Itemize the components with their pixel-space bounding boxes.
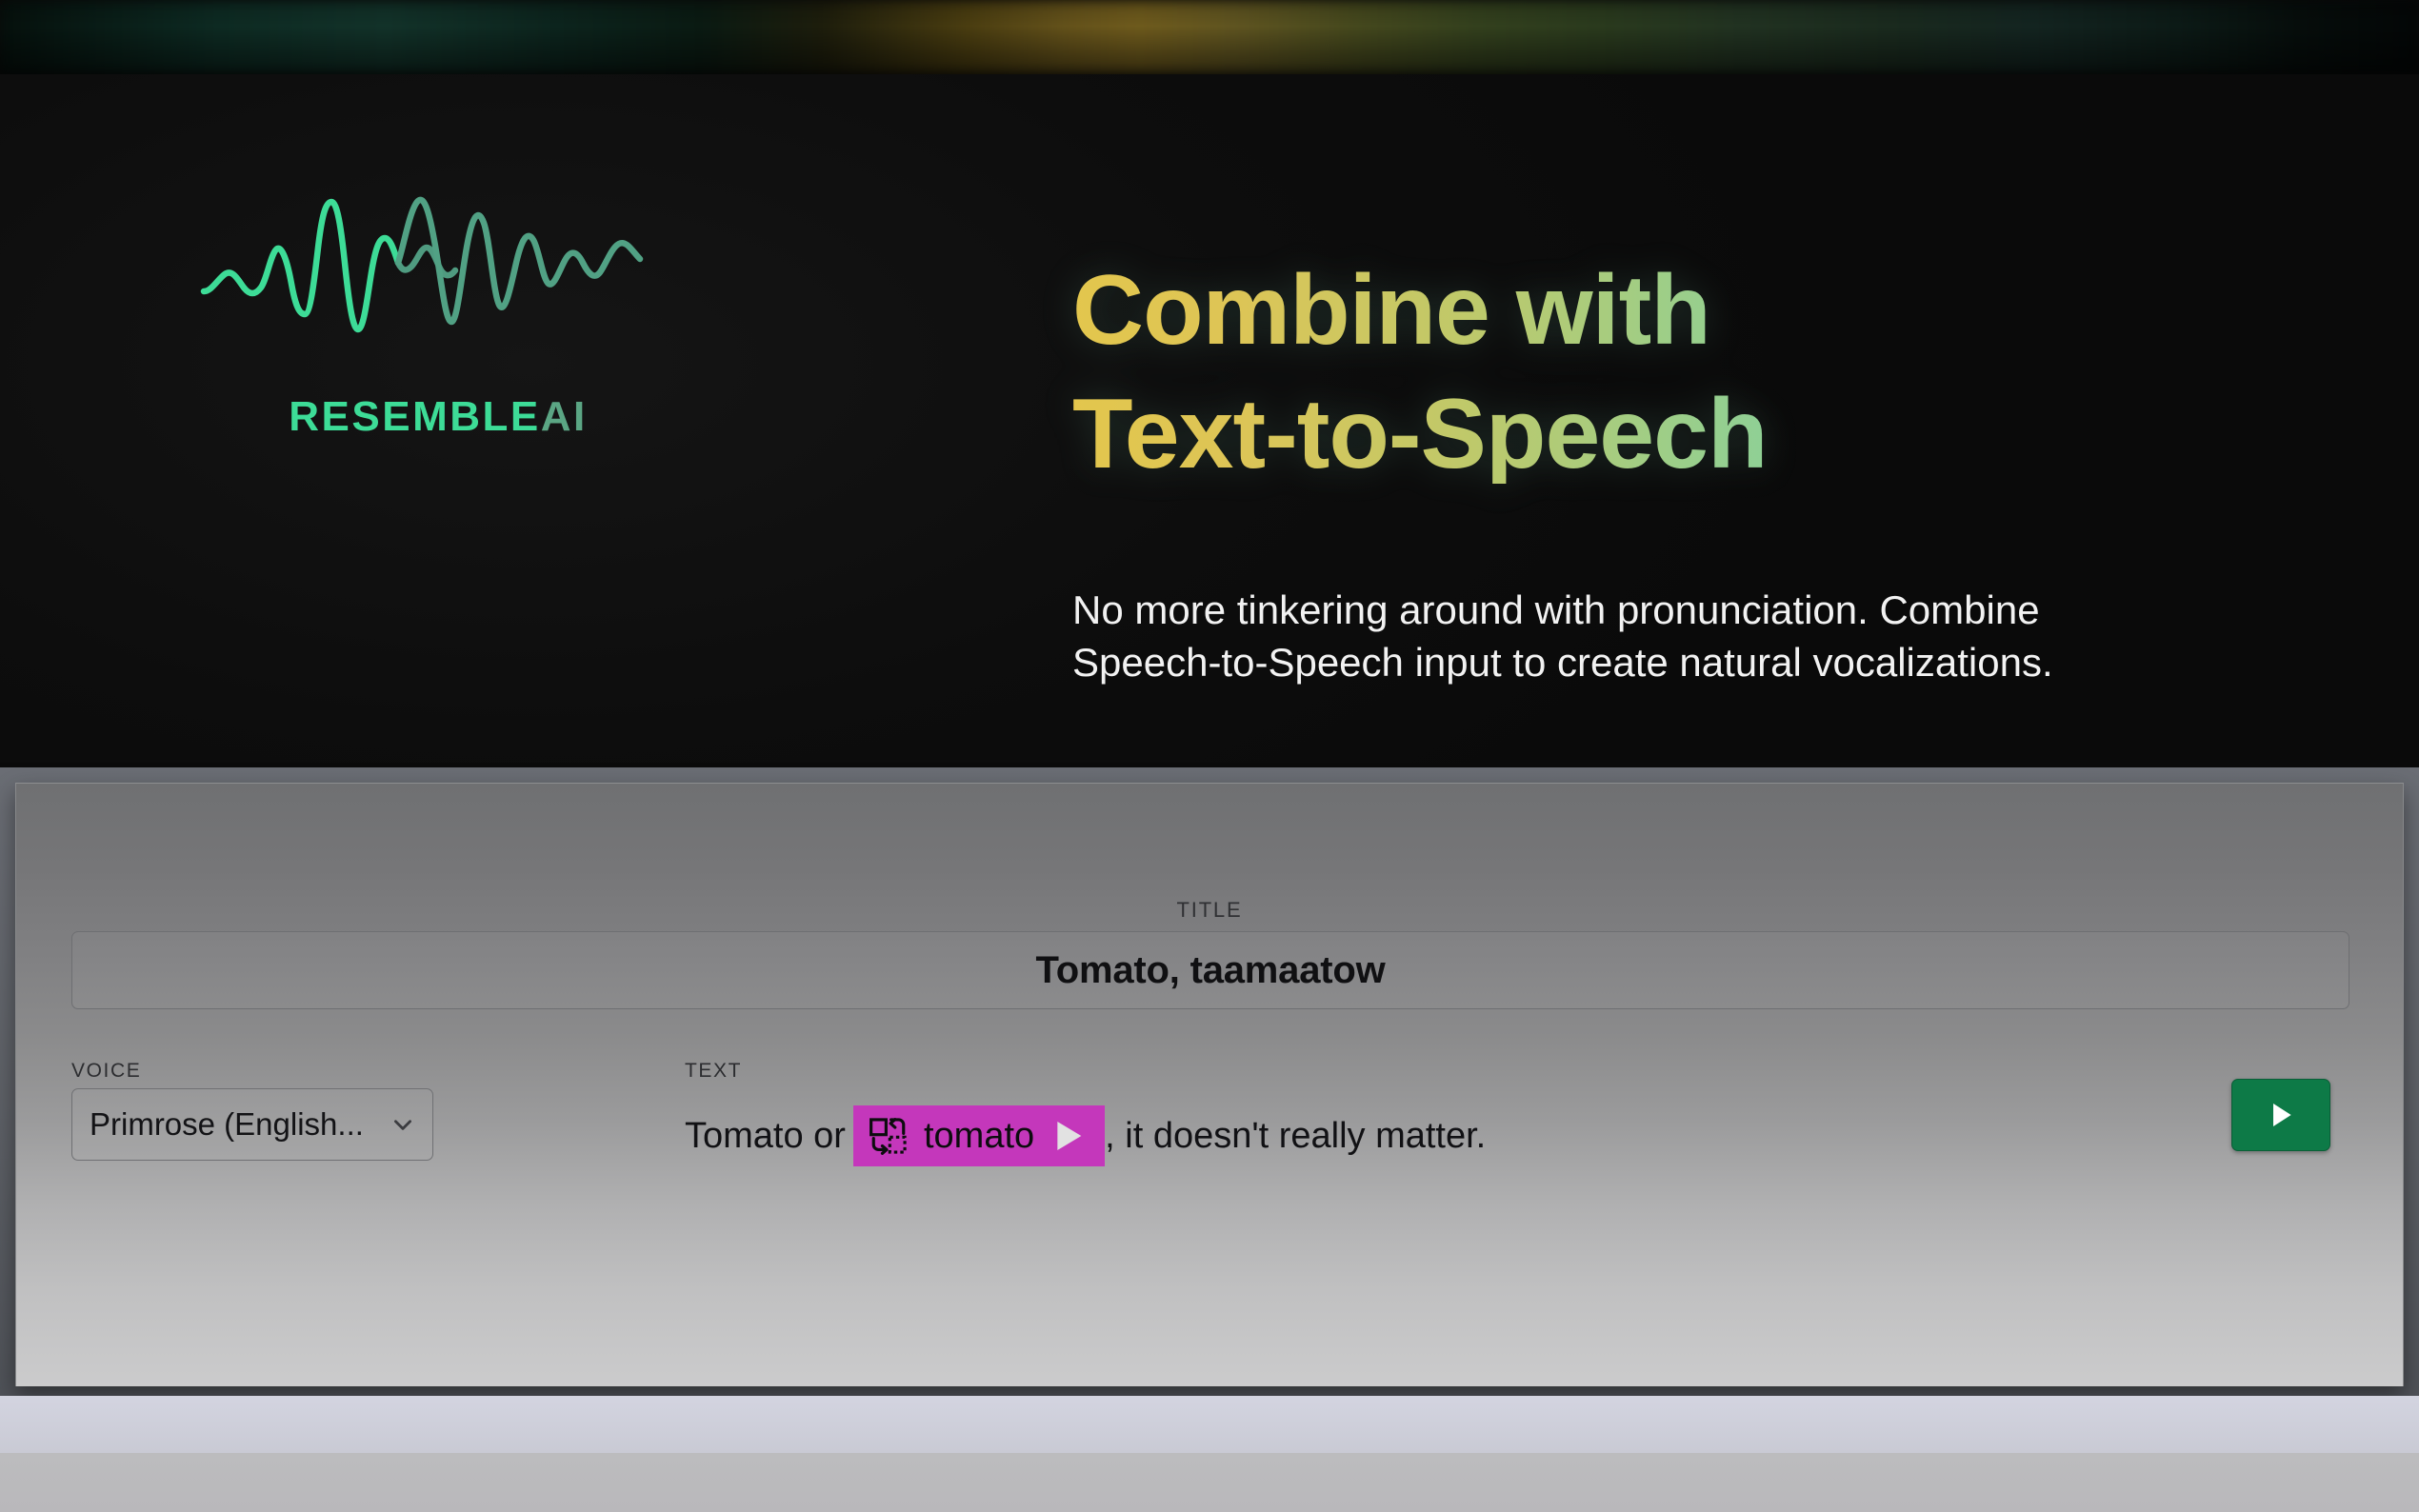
play-icon — [2266, 1100, 2296, 1130]
chevron-down-icon — [390, 1112, 415, 1137]
title-field-label: TITLE — [16, 898, 2403, 923]
title-input-value: Tomato, taamaatow — [1035, 949, 1385, 992]
voice-select[interactable]: Primrose (English... — [71, 1088, 433, 1161]
wordmark-main: RESEMBLE — [289, 393, 540, 440]
page-title: Combine with Text-to-Speech — [1072, 261, 2234, 484]
audio-waveform-icon — [200, 189, 676, 379]
lower-band-gray — [0, 1453, 2419, 1512]
brand-wordmark: RESEMBLEAI — [181, 396, 695, 438]
text-input[interactable]: Tomato or tomato — [685, 1098, 2170, 1174]
voice-field-label: VOICE — [71, 1060, 141, 1083]
headline-line-2: Text-to-Speech — [1072, 385, 2234, 484]
pill-label: tomato — [924, 1116, 1034, 1157]
lower-band-lavender — [0, 1396, 2419, 1453]
play-triangle-icon[interactable] — [1050, 1117, 1088, 1155]
editor-panel: TITLE Tomato, taamaatow VOICE Primrose (… — [15, 783, 2404, 1386]
speech-to-speech-swap-icon — [869, 1116, 909, 1156]
text-before-pill: Tomato or — [685, 1116, 846, 1157]
play-button[interactable] — [2231, 1079, 2330, 1151]
wordmark-suffix: AI — [541, 393, 588, 440]
headline-line-1: Combine with — [1072, 255, 1710, 366]
text-field-label: TEXT — [685, 1060, 742, 1083]
page-root: RESEMBLEAI Combine with Text-to-Speech N… — [0, 0, 2419, 1512]
title-input[interactable]: Tomato, taamaatow — [71, 931, 2349, 1009]
hero-header: RESEMBLEAI Combine with Text-to-Speech N… — [0, 74, 2419, 763]
top-gradient-fade — [0, 0, 2419, 74]
brand-logo: RESEMBLEAI — [181, 189, 695, 438]
speech-to-speech-pill[interactable]: tomato — [853, 1105, 1105, 1166]
voice-select-value: Primrose (English... — [90, 1106, 390, 1143]
editor-row: VOICE Primrose (English... TEXT Tomato o… — [16, 1060, 2403, 1203]
hero-subhead: No more tinkering around with pronunciat… — [1072, 585, 2196, 688]
text-after-pill: , it doesn't really matter. — [1105, 1116, 1486, 1157]
